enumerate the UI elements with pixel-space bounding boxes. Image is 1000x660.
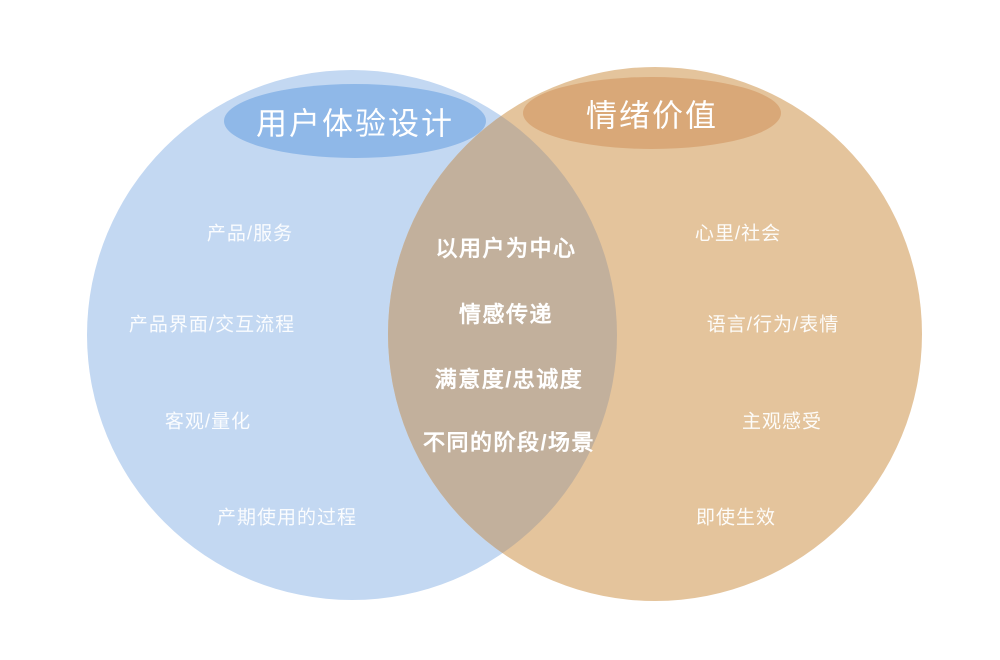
right-title-ellipse [523, 77, 781, 149]
venn-shapes [0, 0, 1000, 660]
venn-diagram: 用户体验设计 情绪价值 产品/服务产品界面/交互流程客观/量化产期使用的过程 以… [0, 0, 1000, 660]
left-title-ellipse [224, 84, 486, 158]
